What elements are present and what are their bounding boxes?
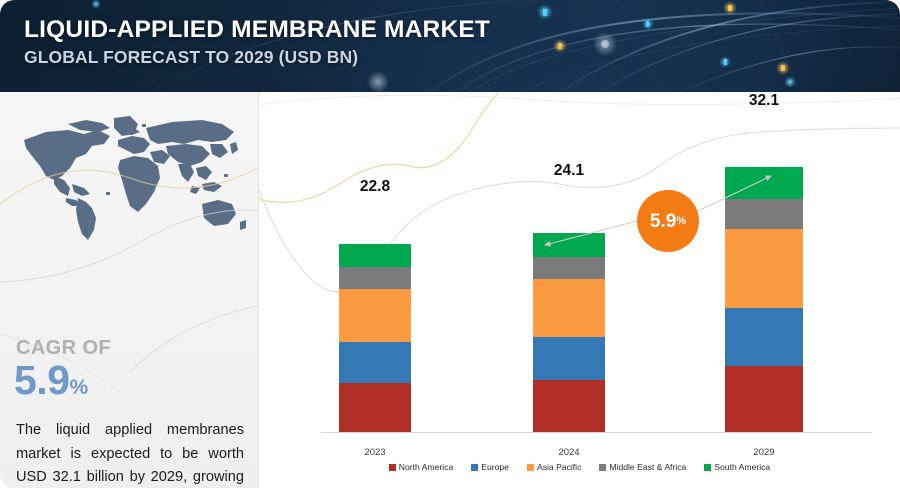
legend-swatch-icon (389, 464, 396, 471)
chart-legend: North America Europe Asia Pacific Middle… (259, 462, 900, 472)
world-map-icon (6, 110, 252, 250)
bar-segment-asia-pacific (339, 289, 411, 343)
bar-segment-europe (725, 308, 803, 366)
bar-segment-south-america (339, 244, 411, 267)
header-banner: LIQUID-APPLIED MEMBRANE MARKET GLOBAL FO… (0, 0, 900, 92)
world-map-svg (6, 110, 252, 250)
bar-segment-north-america (533, 380, 605, 432)
bar-total-label-2023: 22.8 (339, 178, 411, 196)
legend-item-asia-pacific[interactable]: Asia Pacific (527, 462, 581, 472)
bar-segment-north-america (339, 383, 411, 432)
page-subtitle: GLOBAL FORECAST TO 2029 (USD BN) (24, 47, 490, 68)
cagr-callout-percent: % (676, 216, 686, 227)
legend-item-europe[interactable]: Europe (471, 462, 509, 472)
legend-label: Middle East & Africa (609, 462, 686, 472)
x-tick-label-2029: 2029 (725, 447, 803, 458)
legend-item-north-america[interactable]: North America (389, 462, 453, 472)
bar-segment-europe (339, 342, 411, 382)
plot-area: 22.8 2023 24.1 2024 32.1 (259, 92, 900, 488)
page-title: LIQUID-APPLIED MEMBRANE MARKET (24, 17, 490, 44)
legend-swatch-icon (471, 464, 478, 471)
stacked-bar-2023[interactable] (339, 244, 411, 432)
cagr-value: 5.9% (14, 360, 88, 401)
legend-swatch-icon (599, 464, 606, 471)
x-tick-label-2023: 2023 (339, 447, 411, 458)
legend-swatch-icon (527, 464, 534, 471)
left-summary-panel: CAGR OF 5.9% The liquid applied membrane… (0, 92, 258, 488)
bar-segment-asia-pacific (533, 279, 605, 337)
bar-segment-middle-east-africa (339, 267, 411, 288)
legend-label: South America (714, 462, 770, 472)
bar-segment-north-america (725, 366, 803, 432)
bar-segment-europe (533, 337, 605, 380)
bar-segment-middle-east-africa (725, 199, 803, 229)
cagr-percent-sign: % (70, 376, 89, 399)
infographic-page: LIQUID-APPLIED MEMBRANE MARKET GLOBAL FO… (0, 0, 900, 488)
x-tick-label-2024: 2024 (533, 447, 605, 458)
stacked-bar-2024[interactable] (533, 233, 605, 432)
cagr-number: 5.9 (14, 357, 70, 403)
legend-label: North America (399, 462, 453, 472)
bar-total-label-2029: 32.1 (725, 92, 803, 110)
bar-total-label-2024: 24.1 (533, 162, 605, 180)
legend-item-south-america[interactable]: South America (704, 462, 770, 472)
x-axis-line (321, 432, 872, 433)
summary-description: The liquid applied membranes market is e… (16, 419, 244, 488)
bar-segment-middle-east-africa (533, 257, 605, 279)
cagr-callout-bubble[interactable]: 5.9% (637, 190, 699, 252)
header-text-block: LIQUID-APPLIED MEMBRANE MARKET GLOBAL FO… (24, 17, 490, 68)
stacked-bar-2029[interactable] (725, 167, 803, 432)
bar-segment-south-america (533, 233, 605, 257)
legend-swatch-icon (704, 464, 711, 471)
chart-panel: 22.8 2023 24.1 2024 32.1 (259, 92, 900, 488)
legend-item-middle-east-africa[interactable]: Middle East & Africa (599, 462, 686, 472)
legend-label: Asia Pacific (537, 462, 581, 472)
cagr-callout-number: 5.9 (650, 212, 676, 231)
legend-label: Europe (481, 462, 509, 472)
bar-segment-asia-pacific (725, 229, 803, 308)
bar-segment-south-america (725, 167, 803, 199)
